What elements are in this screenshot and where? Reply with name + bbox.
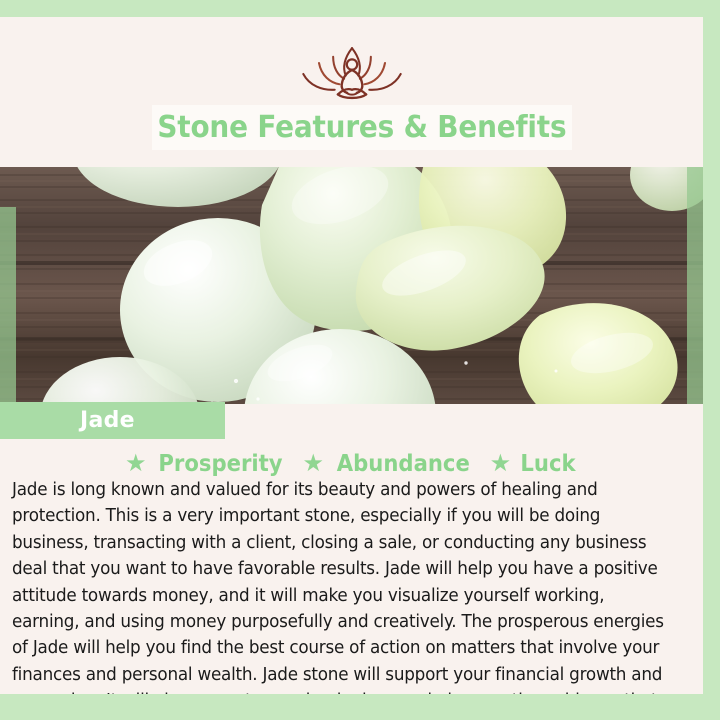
keyword-label: Prosperity: [159, 451, 283, 477]
keyword-abundance: ★ Abundance: [302, 451, 475, 477]
keyword-luck: ★ Luck: [490, 451, 578, 477]
stone-name-band: Jade: [0, 402, 225, 439]
keyword-label: Luck: [520, 451, 575, 477]
section-title-banner: Stone Features & Benefits: [152, 105, 572, 150]
frame-band-bottom: [0, 694, 545, 720]
photo-right-green-overlay: [687, 167, 703, 404]
star-icon: ★: [302, 452, 324, 476]
photo-left-green-overlay: [0, 207, 16, 404]
star-icon: ★: [125, 452, 147, 476]
page-title: Stone Features & Benefits: [158, 110, 567, 145]
lotus-meditation-figure-icon: [288, 41, 416, 107]
frame-band-right: [703, 0, 720, 705]
stone-photo: [0, 167, 703, 404]
benefit-keywords-row: ★ Prosperity ★ Abundance ★ Luck: [0, 447, 703, 480]
stone-name-label: Jade: [80, 408, 135, 433]
frame-band-top: [420, 0, 720, 17]
keyword-prosperity: ★ Prosperity: [125, 451, 288, 477]
keyword-label: Abundance: [337, 451, 470, 477]
stone-description-paragraph: Jade is long known and valued for its be…: [12, 477, 669, 694]
jade-stones-illustration: [0, 167, 703, 404]
star-icon: ★: [490, 452, 512, 476]
